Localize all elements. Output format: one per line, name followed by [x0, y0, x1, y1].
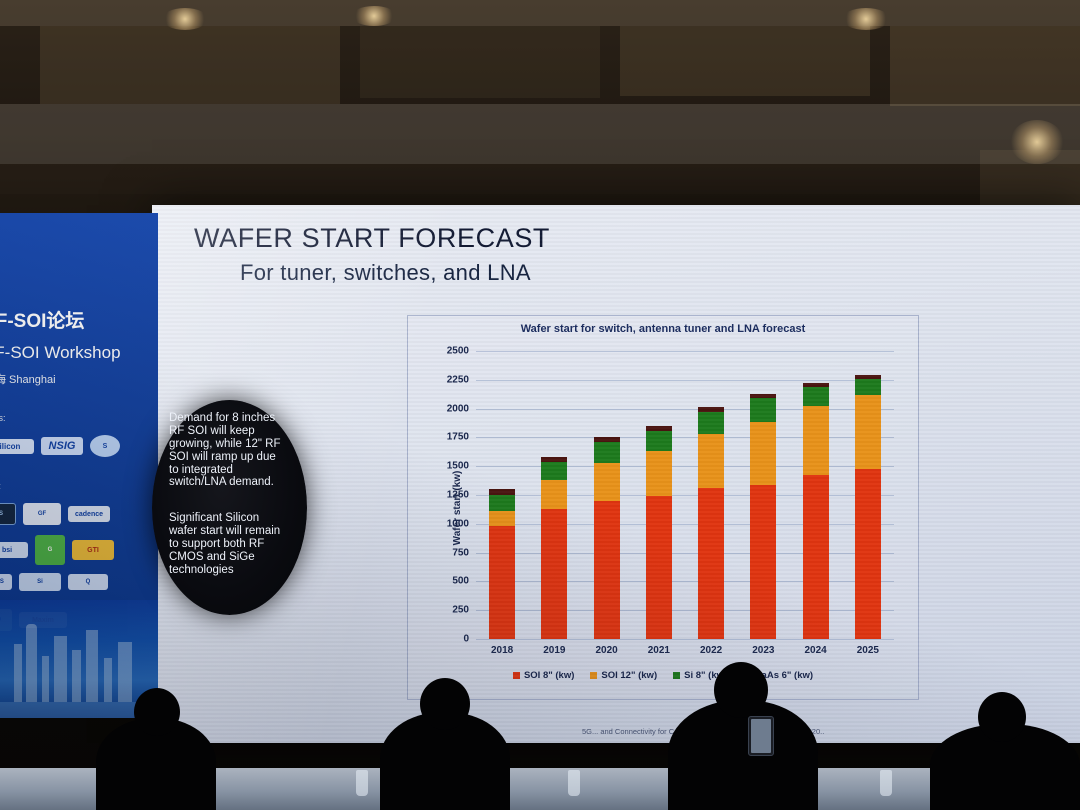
organizers-label: zers:	[0, 413, 6, 423]
chart-bar-segment	[698, 434, 724, 488]
chart-gridline	[476, 524, 894, 525]
y-axis-tick: 750	[452, 547, 469, 558]
sponsor-logos-row: S GF cadence	[0, 503, 110, 525]
y-axis-tick: 2500	[447, 346, 469, 357]
chart-bar-segment	[698, 488, 724, 639]
legend-swatch-icon	[513, 672, 520, 679]
chart-bar-segment	[541, 462, 567, 480]
logo-gti: GTI	[72, 540, 114, 560]
chart-gridline	[476, 409, 894, 410]
chart-bar-segment	[855, 395, 881, 469]
page-title: WAFER START FORECAST	[194, 223, 550, 254]
chart-bar-segment	[803, 387, 829, 407]
y-axis-tick: 2000	[447, 403, 469, 414]
chart-bar-segment	[855, 469, 881, 639]
ceiling-beam	[40, 26, 340, 104]
logo-qorvo: Q	[68, 574, 108, 590]
ceiling-downlight	[162, 8, 208, 30]
y-axis-tick: 1000	[447, 518, 469, 529]
y-axis-tick: 2250	[447, 374, 469, 385]
sponsor-logos-row: D Maxim	[0, 609, 67, 631]
logo-bsi: bsi	[0, 542, 28, 558]
sponsors-label: ors:	[0, 481, 1, 491]
legend-item[interactable]: SOI 12" (kw)	[590, 670, 657, 681]
logo-globalfoundries: GF	[23, 503, 61, 525]
logo-nsig: NSIG	[41, 437, 83, 455]
audience-head	[420, 678, 470, 730]
sponsor-logos-row: bsi G GTI	[0, 535, 114, 565]
chart-bar-segment	[698, 412, 724, 434]
y-axis-tick: 250	[452, 605, 469, 616]
wafer-start-chart: Wafer start for switch, antenna tuner an…	[407, 315, 919, 700]
chart-bar-segment	[594, 463, 620, 501]
skyline-building	[14, 644, 22, 702]
banner-city: 上海 Shanghai	[0, 371, 56, 387]
x-axis-tick: 2019	[524, 645, 584, 656]
ceiling-downlight	[352, 6, 396, 26]
x-axis-tick: 2018	[472, 645, 532, 656]
chart-bar	[803, 383, 829, 639]
chart-bar-segment	[803, 406, 829, 475]
chart-bar-segment	[594, 442, 620, 463]
chart-bar-segment	[855, 379, 881, 395]
phone-screen	[751, 719, 771, 753]
skyline-building	[72, 650, 81, 702]
banner-title-en: RF-SOI Workshop	[0, 343, 121, 363]
x-axis-tick: 2020	[577, 645, 637, 656]
chart-gridline	[476, 380, 894, 381]
plot-area: 0250500750100012501500175020002250250020…	[476, 351, 894, 639]
logo-silicon: Si	[19, 573, 61, 591]
ceiling-beam	[890, 26, 1080, 106]
audience-head	[714, 662, 768, 718]
chart-bar	[646, 426, 672, 639]
chart-bar-segment	[750, 422, 776, 484]
audience-head	[978, 692, 1026, 742]
water-glass	[568, 770, 580, 796]
water-glass	[880, 770, 892, 796]
legend-swatch-icon	[673, 672, 680, 679]
skyline-building	[118, 642, 132, 702]
callout-paragraph-2: Significant Silicon wafer start will rem…	[169, 512, 287, 576]
logo-vis: VIS	[0, 574, 12, 590]
chart-legend: SOI 8" (kw)SOI 12" (kw)Si 8" (kw)GaAs 6"…	[408, 670, 918, 681]
y-axis-tick: 1500	[447, 461, 469, 472]
y-axis-tick: 500	[452, 576, 469, 587]
chart-bar	[750, 394, 776, 639]
y-axis-label: Wafer start (kw)	[452, 470, 463, 545]
chart-bar-segment	[750, 485, 776, 639]
chart-bar-segment	[646, 431, 672, 452]
logo-maxim: Maxim	[19, 612, 67, 628]
chart-gridline	[476, 495, 894, 496]
chart-bar-segment	[750, 398, 776, 422]
chart-gridline	[476, 351, 894, 352]
chart-bar-segment	[489, 526, 515, 639]
y-axis-tick: 1250	[447, 490, 469, 501]
callout-paragraph-1: Demand for 8 inches RF SOI will keep gro…	[169, 412, 287, 489]
chart-bar-segment	[803, 475, 829, 639]
logo-cadence: cadence	[68, 506, 110, 522]
x-axis-tick: 2022	[681, 645, 741, 656]
chart-gridline	[476, 553, 894, 554]
chart-bar	[698, 407, 724, 639]
ceiling-downlight	[842, 8, 890, 30]
logo-swave: S	[90, 435, 120, 457]
logo-green: G	[35, 535, 65, 565]
logo-soitec: S	[0, 503, 16, 525]
chart-gridline	[476, 466, 894, 467]
chart-bar	[855, 375, 881, 639]
smartphone-recording	[748, 716, 774, 756]
legend-label: SOI 12" (kw)	[601, 670, 657, 681]
chart-bar-segment	[489, 511, 515, 526]
chart-bar	[489, 489, 515, 639]
ceiling-beam	[620, 26, 870, 96]
x-axis-tick: 2023	[733, 645, 793, 656]
chart-bar-segment	[646, 451, 672, 496]
chart-bar-segment	[541, 480, 567, 509]
chart-title: Wafer start for switch, antenna tuner an…	[408, 323, 918, 335]
x-axis-tick: 2025	[838, 645, 898, 656]
ceiling-panel	[0, 164, 1080, 194]
callout-bubble: Demand for 8 inches RF SOI will keep gro…	[152, 400, 307, 615]
chart-bar-segment	[489, 495, 515, 511]
sponsor-logos-row: VIS Si Q	[0, 573, 108, 591]
skyline-building	[54, 636, 67, 702]
chart-gridline	[476, 437, 894, 438]
skyline-building	[86, 630, 98, 702]
chart-bar	[594, 437, 620, 639]
skyline-building	[42, 656, 49, 702]
ceiling-panel	[0, 104, 1080, 164]
logo-ilicon: ilicon	[0, 439, 34, 454]
chart-bar-segment	[594, 501, 620, 639]
page-subtitle: For tuner, switches, and LNA	[240, 260, 531, 286]
chart-gridline	[476, 581, 894, 582]
x-axis-tick: 2024	[786, 645, 846, 656]
skyline-building	[104, 658, 112, 702]
legend-swatch-icon	[590, 672, 597, 679]
organizer-logos: ilicon NSIG S	[0, 435, 120, 457]
chart-bar	[541, 457, 567, 639]
ceiling-beam	[360, 26, 600, 98]
chart-gridline	[476, 610, 894, 611]
x-axis-tick: 2021	[629, 645, 689, 656]
chart-bar-segment	[541, 509, 567, 639]
logo-dream: D	[0, 609, 12, 631]
y-axis-tick: 0	[463, 634, 469, 645]
shanghai-skyline-image	[0, 600, 158, 718]
audience-head	[134, 688, 180, 736]
water-glass	[356, 770, 368, 796]
legend-item[interactable]: SOI 8" (kw)	[513, 670, 574, 681]
event-banner: RF-SOI论坛 RF-SOI Workshop 上海 Shanghai zer…	[0, 213, 158, 718]
chart-gridline	[476, 639, 894, 640]
legend-label: SOI 8" (kw)	[524, 670, 574, 681]
y-axis-tick: 1750	[447, 432, 469, 443]
skyline-building	[26, 624, 37, 702]
banner-title-cn: RF-SOI论坛	[0, 306, 84, 333]
chart-bar-segment	[646, 496, 672, 639]
